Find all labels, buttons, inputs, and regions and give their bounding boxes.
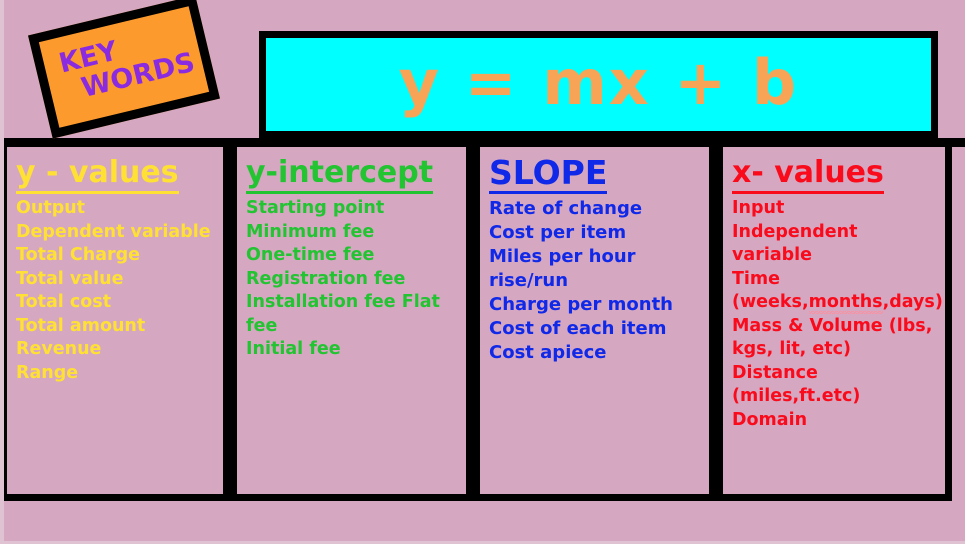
list-item: Total amount [16, 315, 215, 339]
list-item: Registration fee [246, 268, 458, 292]
column-list-y-values: Output Dependent variable Total Charge T… [16, 197, 215, 385]
key-words-badge-text: KEY WORDS [50, 14, 219, 108]
slide-canvas: KEY WORDS y = mx + b y - values Output D… [0, 0, 965, 544]
list-item: Domain [732, 409, 937, 433]
list-item: Installation fee Flat fee [246, 291, 458, 338]
list-item: Cost apiece [489, 341, 701, 365]
keyword-columns: y - values Output Dependent variable Tot… [0, 140, 952, 501]
list-item: Total cost [16, 291, 215, 315]
list-item: Dependent variable [16, 221, 215, 245]
column-x-values: x- values Input Independent variable Tim… [716, 140, 952, 501]
column-title-slope: SLOPE [489, 156, 607, 194]
list-item: Starting point [246, 197, 458, 221]
list-item: rise/run [489, 269, 701, 293]
column-slope: SLOPE Rate of change Cost per item Miles… [473, 140, 716, 501]
list-item: Revenue [16, 338, 215, 362]
list-item: Time (weeks,months,days) [732, 268, 937, 315]
list-item: Mass & Volume (lbs, kgs, lit, etc) [732, 315, 937, 362]
list-item: Independent variable [732, 221, 937, 268]
slope-intercept-equation: y = mx + b [399, 52, 799, 114]
key-words-badge: KEY WORDS [28, 0, 220, 139]
list-item: Rate of change [489, 197, 701, 221]
column-y-intercept: y-intercept Starting point Minimum fee O… [230, 140, 473, 501]
column-y-values: y - values Output Dependent variable Tot… [0, 140, 230, 501]
list-item: Output [16, 197, 215, 221]
list-item: Charge per month [489, 293, 701, 317]
list-item: Total Charge [16, 244, 215, 268]
list-item: Distance (miles,ft.etc) [732, 362, 937, 409]
column-list-x-values: Input Independent variable Time (weeks,m… [732, 197, 937, 432]
column-list-slope: Rate of change Cost per item Miles per h… [489, 197, 701, 365]
equation-banner: y = mx + b [259, 31, 938, 138]
list-item: Miles per hour [489, 245, 701, 269]
column-title-y-values: y - values [16, 156, 179, 194]
list-item: Range [16, 362, 215, 386]
column-title-x-values: x- values [732, 156, 884, 194]
column-title-y-intercept: y-intercept [246, 156, 433, 194]
column-list-y-intercept: Starting point Minimum fee One-time fee … [246, 197, 458, 362]
list-item: Total value [16, 268, 215, 292]
list-item: Cost of each item [489, 317, 701, 341]
list-item: Minimum fee [246, 221, 458, 245]
spellcheck-underline: s [872, 292, 882, 314]
list-item: Initial fee [246, 338, 458, 362]
list-item: Input [732, 197, 937, 221]
spellcheck-underline: month [809, 292, 873, 314]
list-item: Cost per item [489, 221, 701, 245]
list-item: One-time fee [246, 244, 458, 268]
